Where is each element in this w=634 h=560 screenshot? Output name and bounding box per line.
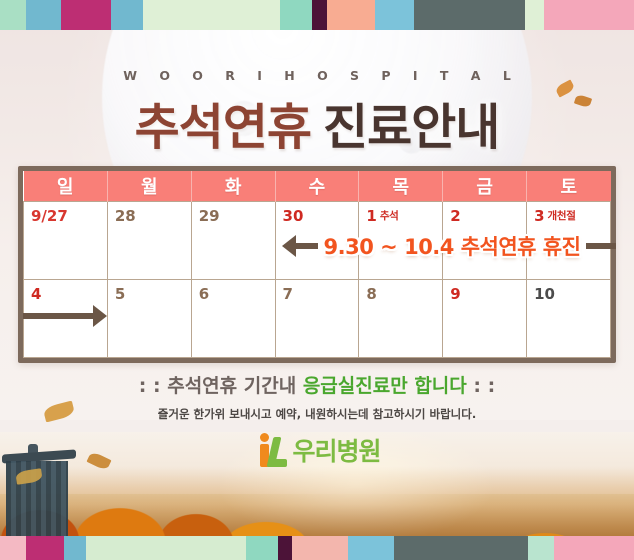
stripe-block [394, 536, 528, 560]
stripe-block [525, 0, 544, 30]
calendar-day-number: 30 [283, 207, 304, 225]
calendar-weekday-0: 일 [24, 171, 108, 201]
stripe-block [327, 0, 375, 30]
stripe-block [375, 0, 414, 30]
calendar-day-number: 29 [199, 207, 220, 225]
calendar-day-number: 5 [115, 285, 125, 303]
calendar-weekday-header: 일월화수목금토 [24, 171, 611, 201]
calendar-frame: 일월화수목금토 9/272829301추석23개천절45678910 [18, 166, 616, 363]
holiday-calendar: 일월화수목금토 9/272829301추석23개천절45678910 [23, 171, 611, 358]
stripe-block [86, 536, 246, 560]
calendar-day-cell[interactable]: 29 [191, 201, 275, 279]
page-title-part-1: 추석연휴 [135, 99, 311, 156]
calendar-day-cell[interactable]: 5 [107, 279, 191, 357]
stripe-block [554, 536, 634, 560]
brand-eyebrow: W O O R I H O S P I T A L [0, 68, 634, 83]
stripe-block [111, 0, 143, 30]
stripe-block [544, 0, 634, 30]
stripe-block [0, 536, 26, 560]
stripe-block [143, 0, 279, 30]
calendar-day-number: 9/27 [31, 207, 68, 225]
calendar-weekday-2: 화 [191, 171, 275, 201]
calendar-day-number: 4 [31, 285, 41, 303]
calendar-weekday-4: 목 [359, 171, 443, 201]
autumn-trees [0, 466, 634, 536]
calendar-day-cell[interactable]: 9 [443, 279, 527, 357]
page-title: 추석연휴진료안내 [0, 88, 634, 159]
stripe-block [64, 536, 86, 560]
stripe-block [61, 0, 110, 30]
stripe-block [348, 536, 394, 560]
hospital-logo-icon [253, 433, 287, 467]
calendar-day-number: 28 [115, 207, 136, 225]
emergency-notice-highlight: 응급실진료만 합니다 [303, 375, 467, 397]
calendar-day-number: 9 [450, 285, 460, 303]
emergency-notice-prefix: : : 추석연휴 기간내 [139, 375, 303, 397]
calendar-day-cell[interactable]: 7 [275, 279, 359, 357]
calendar-day-cell[interactable]: 28 [107, 201, 191, 279]
top-color-stripe [0, 0, 634, 30]
emergency-notice-suffix: : : [467, 375, 495, 397]
emergency-notice: : : 추석연휴 기간내 응급실진료만 합니다 : : [0, 371, 634, 398]
calendar-day-number: 8 [366, 285, 376, 303]
calendar-day-number: 3 [534, 207, 544, 225]
stripe-block [26, 0, 62, 30]
calendar-day-cell[interactable]: 10 [527, 279, 611, 357]
calendar-day-cell[interactable]: 6 [191, 279, 275, 357]
stripe-block [26, 536, 64, 560]
calendar-weekday-3: 수 [275, 171, 359, 201]
calendar-day-cell[interactable]: 3개천절 [527, 201, 611, 279]
calendar-day-number: 10 [534, 285, 555, 303]
calendar-weekday-5: 금 [443, 171, 527, 201]
logo-head-dot [260, 433, 269, 442]
holiday-notice-poster: W O O R I H O S P I T A L 추석연휴진료안내 일월화수목… [0, 0, 634, 560]
calendar-day-holiday-label: 개천절 [548, 210, 576, 222]
hospital-logo-text: 우리병원 [292, 432, 380, 468]
calendar-day-number: 2 [450, 207, 460, 225]
stripe-block [528, 536, 554, 560]
greeting-subnotice: 즐거운 한가위 보내시고 예약, 내원하시는데 참고하시기 바랍니다. [0, 406, 634, 422]
calendar-weekday-6: 토 [527, 171, 611, 201]
calendar-day-holiday-label: 추석 [380, 210, 399, 222]
stripe-block [312, 0, 327, 30]
stripe-block [414, 0, 525, 30]
calendar-day-number: 6 [199, 285, 209, 303]
bottom-color-stripe [0, 536, 634, 560]
page-title-part-2: 진료안내 [323, 99, 499, 156]
calendar-weekday-1: 월 [107, 171, 191, 201]
stripe-block [246, 536, 278, 560]
calendar-day-cell[interactable]: 1추석 [359, 201, 443, 279]
calendar-day-cell[interactable]: 30 [275, 201, 359, 279]
calendar-day-cell[interactable]: 2 [443, 201, 527, 279]
stripe-block [280, 0, 312, 30]
stripe-block [292, 536, 348, 560]
calendar-day-number: 1 [366, 207, 376, 225]
calendar-week-row: 45678910 [24, 279, 611, 357]
logo-green-foot [270, 459, 287, 467]
calendar-day-cell[interactable]: 9/27 [24, 201, 108, 279]
calendar-day-cell[interactable]: 8 [359, 279, 443, 357]
calendar-week-row: 9/272829301추석23개천절 [24, 201, 611, 279]
calendar-day-cell[interactable]: 4 [24, 279, 108, 357]
calendar-day-number: 7 [283, 285, 293, 303]
hospital-logo: 우리병원 [0, 432, 634, 468]
stripe-block [0, 0, 26, 30]
stripe-block [278, 536, 292, 560]
